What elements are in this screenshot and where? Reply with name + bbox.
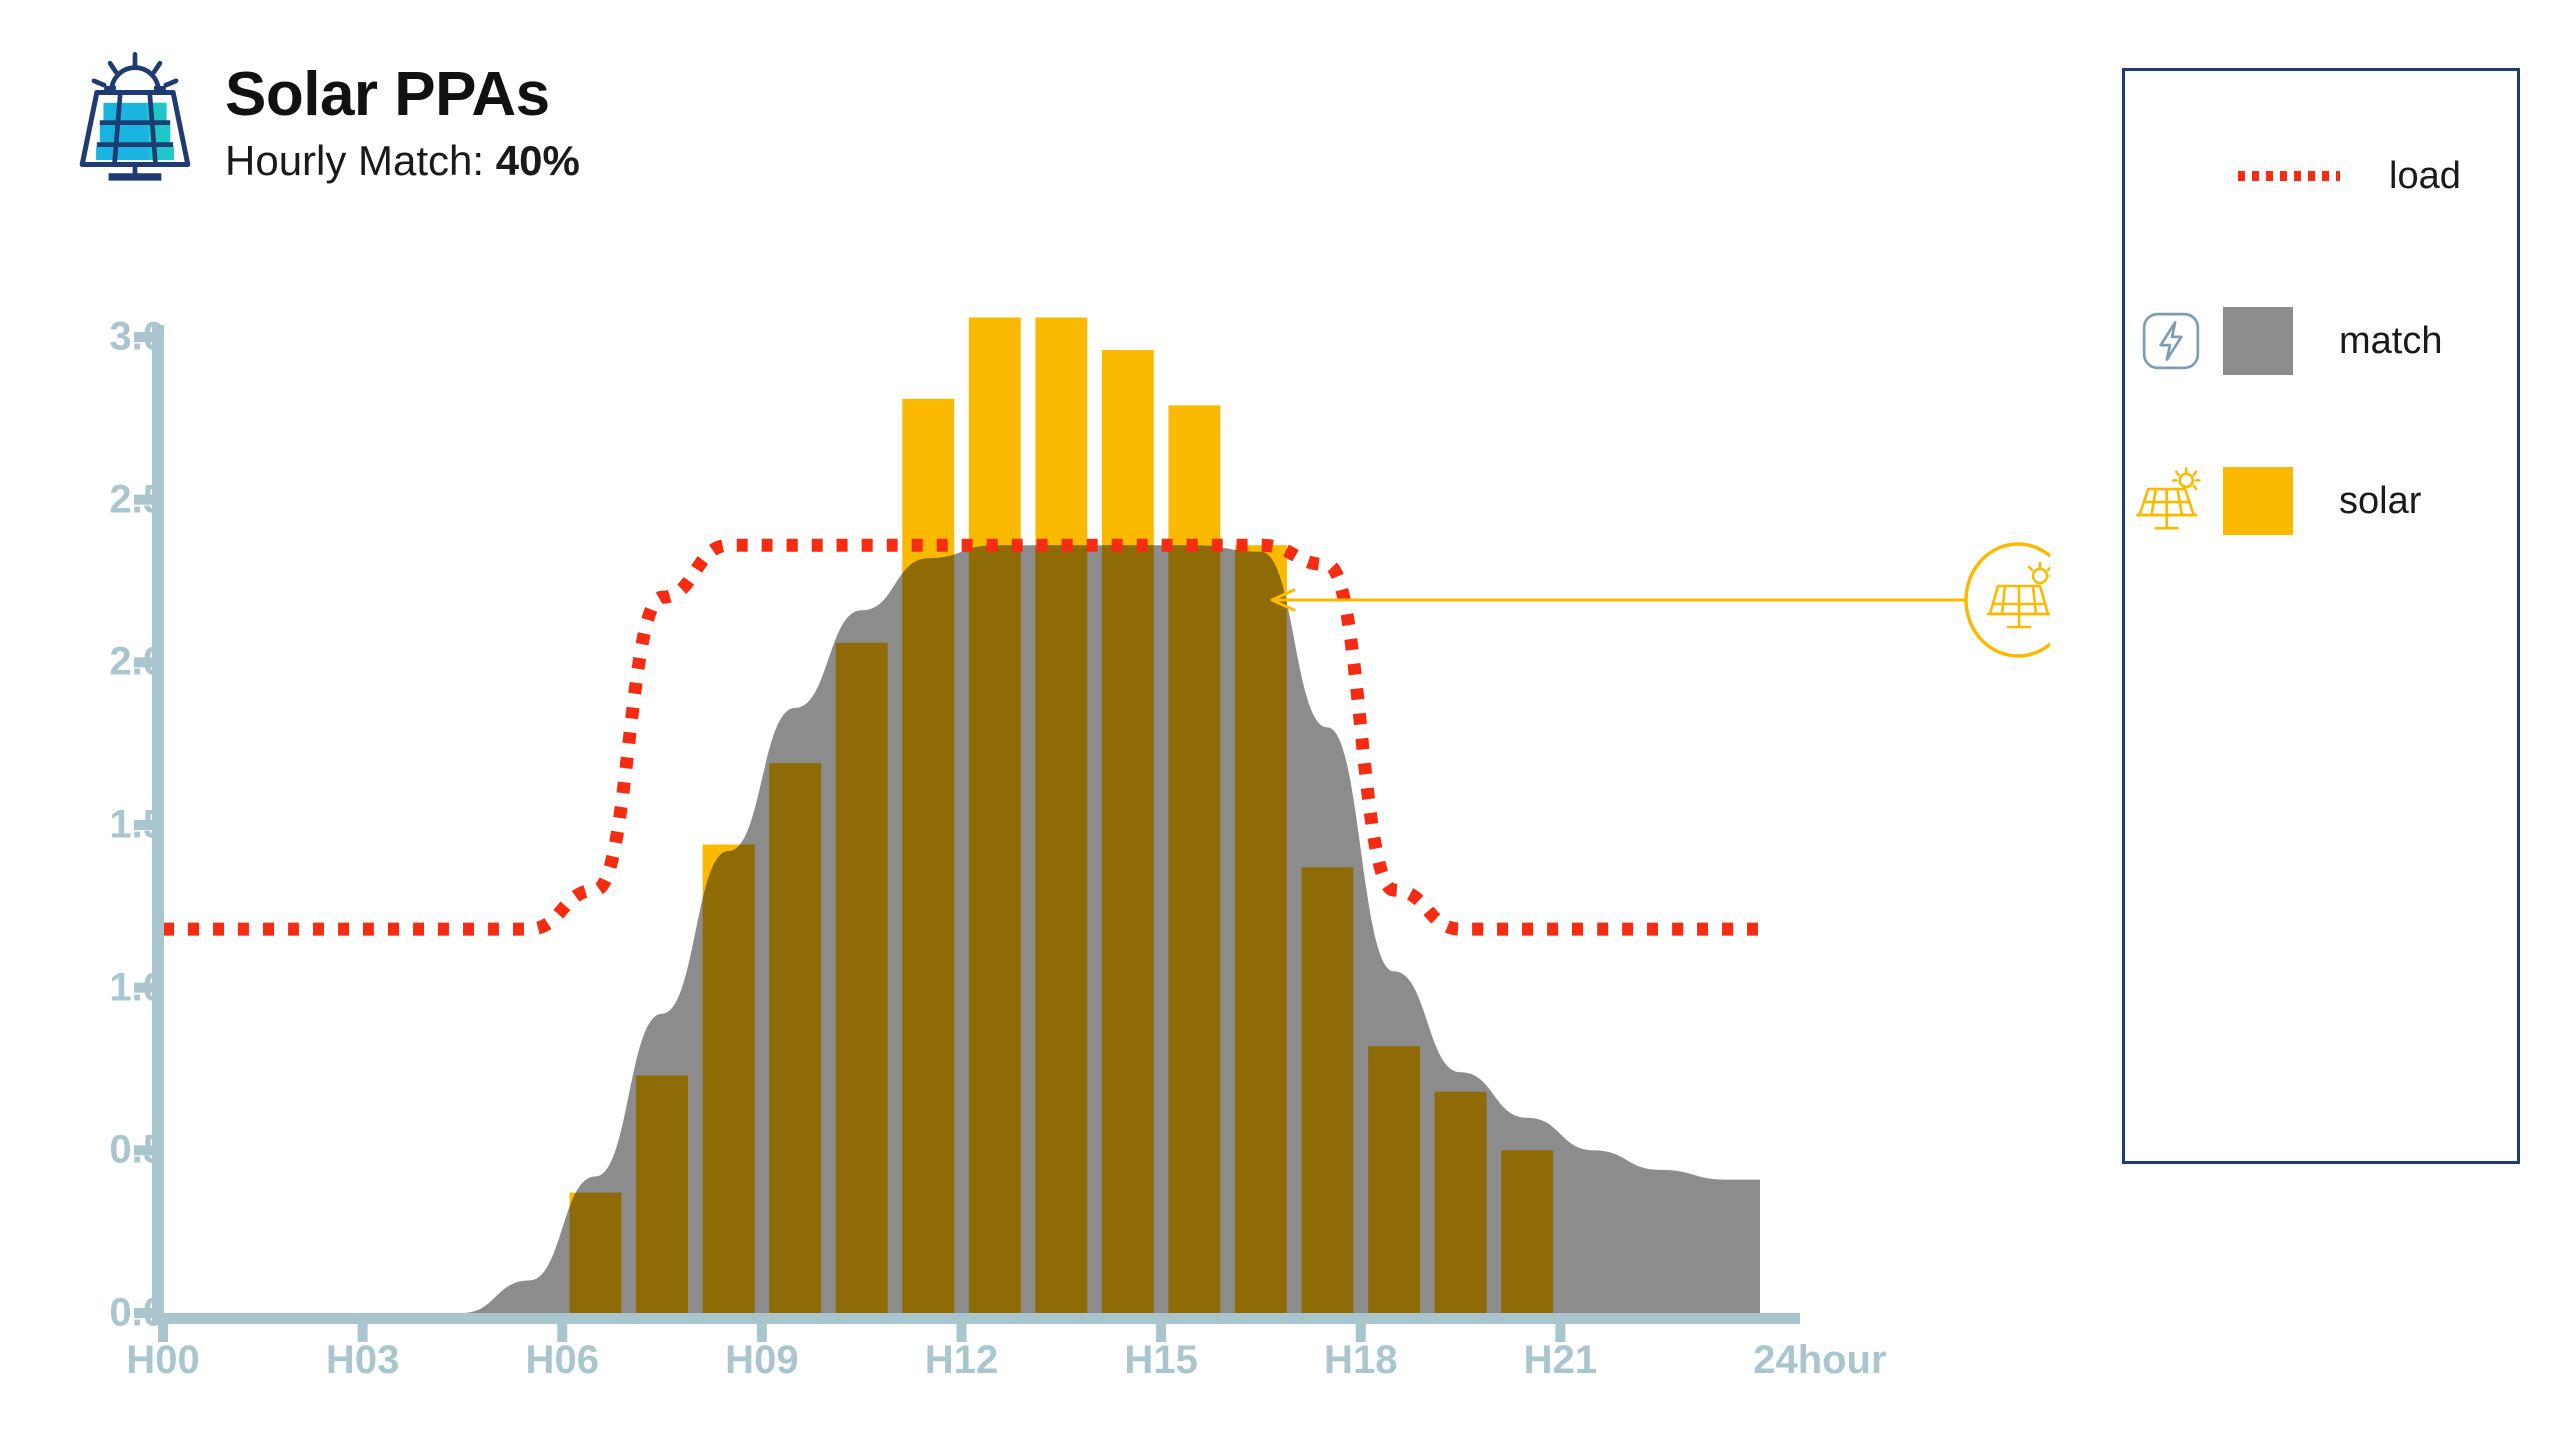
legend-item-solar[interactable]: solar — [2125, 441, 2523, 561]
x-axis-line — [152, 1313, 1800, 1324]
solar-panel-icon — [2125, 446, 2217, 556]
legend-swatch-solar — [2223, 467, 2293, 535]
y-tick-label: 3.0 — [109, 315, 165, 360]
x-axis-labels: H00H03H06H09H12H15H18H2124hour — [0, 1338, 2560, 1398]
x-tick-label: H15 — [1124, 1338, 1197, 1383]
solar-match-overlap — [1235, 545, 1287, 1313]
solar-match-overlap — [1501, 1150, 1553, 1313]
legend-label-solar: solar — [2339, 480, 2421, 523]
legend-label-load: load — [2389, 155, 2461, 198]
legend-item-load[interactable]: load — [2125, 141, 2523, 211]
legend-box: load match — [2122, 68, 2520, 1164]
x-tick-label: H12 — [925, 1338, 998, 1383]
solar-match-overlap — [836, 643, 888, 1313]
y-tick-label: 0.5 — [109, 1128, 165, 1173]
solar-match-overlap — [1368, 1046, 1420, 1313]
solar-match-overlap — [570, 1193, 622, 1313]
legend-label-match: match — [2339, 320, 2442, 363]
x-tick-label: H09 — [725, 1338, 798, 1383]
y-tick-label: 1.0 — [109, 965, 165, 1010]
load-dotted-line-marker — [2235, 170, 2343, 182]
solar-match-overlap — [1302, 867, 1354, 1313]
legend-item-match[interactable]: match — [2125, 281, 2523, 401]
x-tick-label: H18 — [1324, 1338, 1397, 1383]
y-tick-label: 1.5 — [109, 803, 165, 848]
legend-swatch-match — [2223, 307, 2293, 375]
x-axis-title: 24hour — [1753, 1338, 1886, 1383]
bolt-icon — [2125, 286, 2217, 396]
x-tick-label: H06 — [526, 1338, 599, 1383]
x-tick-label: H21 — [1524, 1338, 1597, 1383]
solar-match-overlap — [703, 845, 755, 1313]
solar-match-overlap — [769, 763, 821, 1313]
y-tick-label: 2.5 — [109, 477, 165, 522]
y-axis-labels: 0.00.51.01.52.02.53.0 — [55, 0, 165, 1439]
y-tick-label: 2.0 — [109, 640, 165, 685]
solar-match-overlap — [1435, 1092, 1487, 1313]
solar-match-overlap — [636, 1076, 688, 1313]
x-tick-label: H00 — [126, 1338, 199, 1383]
y-tick-label: 0.0 — [109, 1291, 165, 1336]
x-tick-label: H03 — [326, 1338, 399, 1383]
